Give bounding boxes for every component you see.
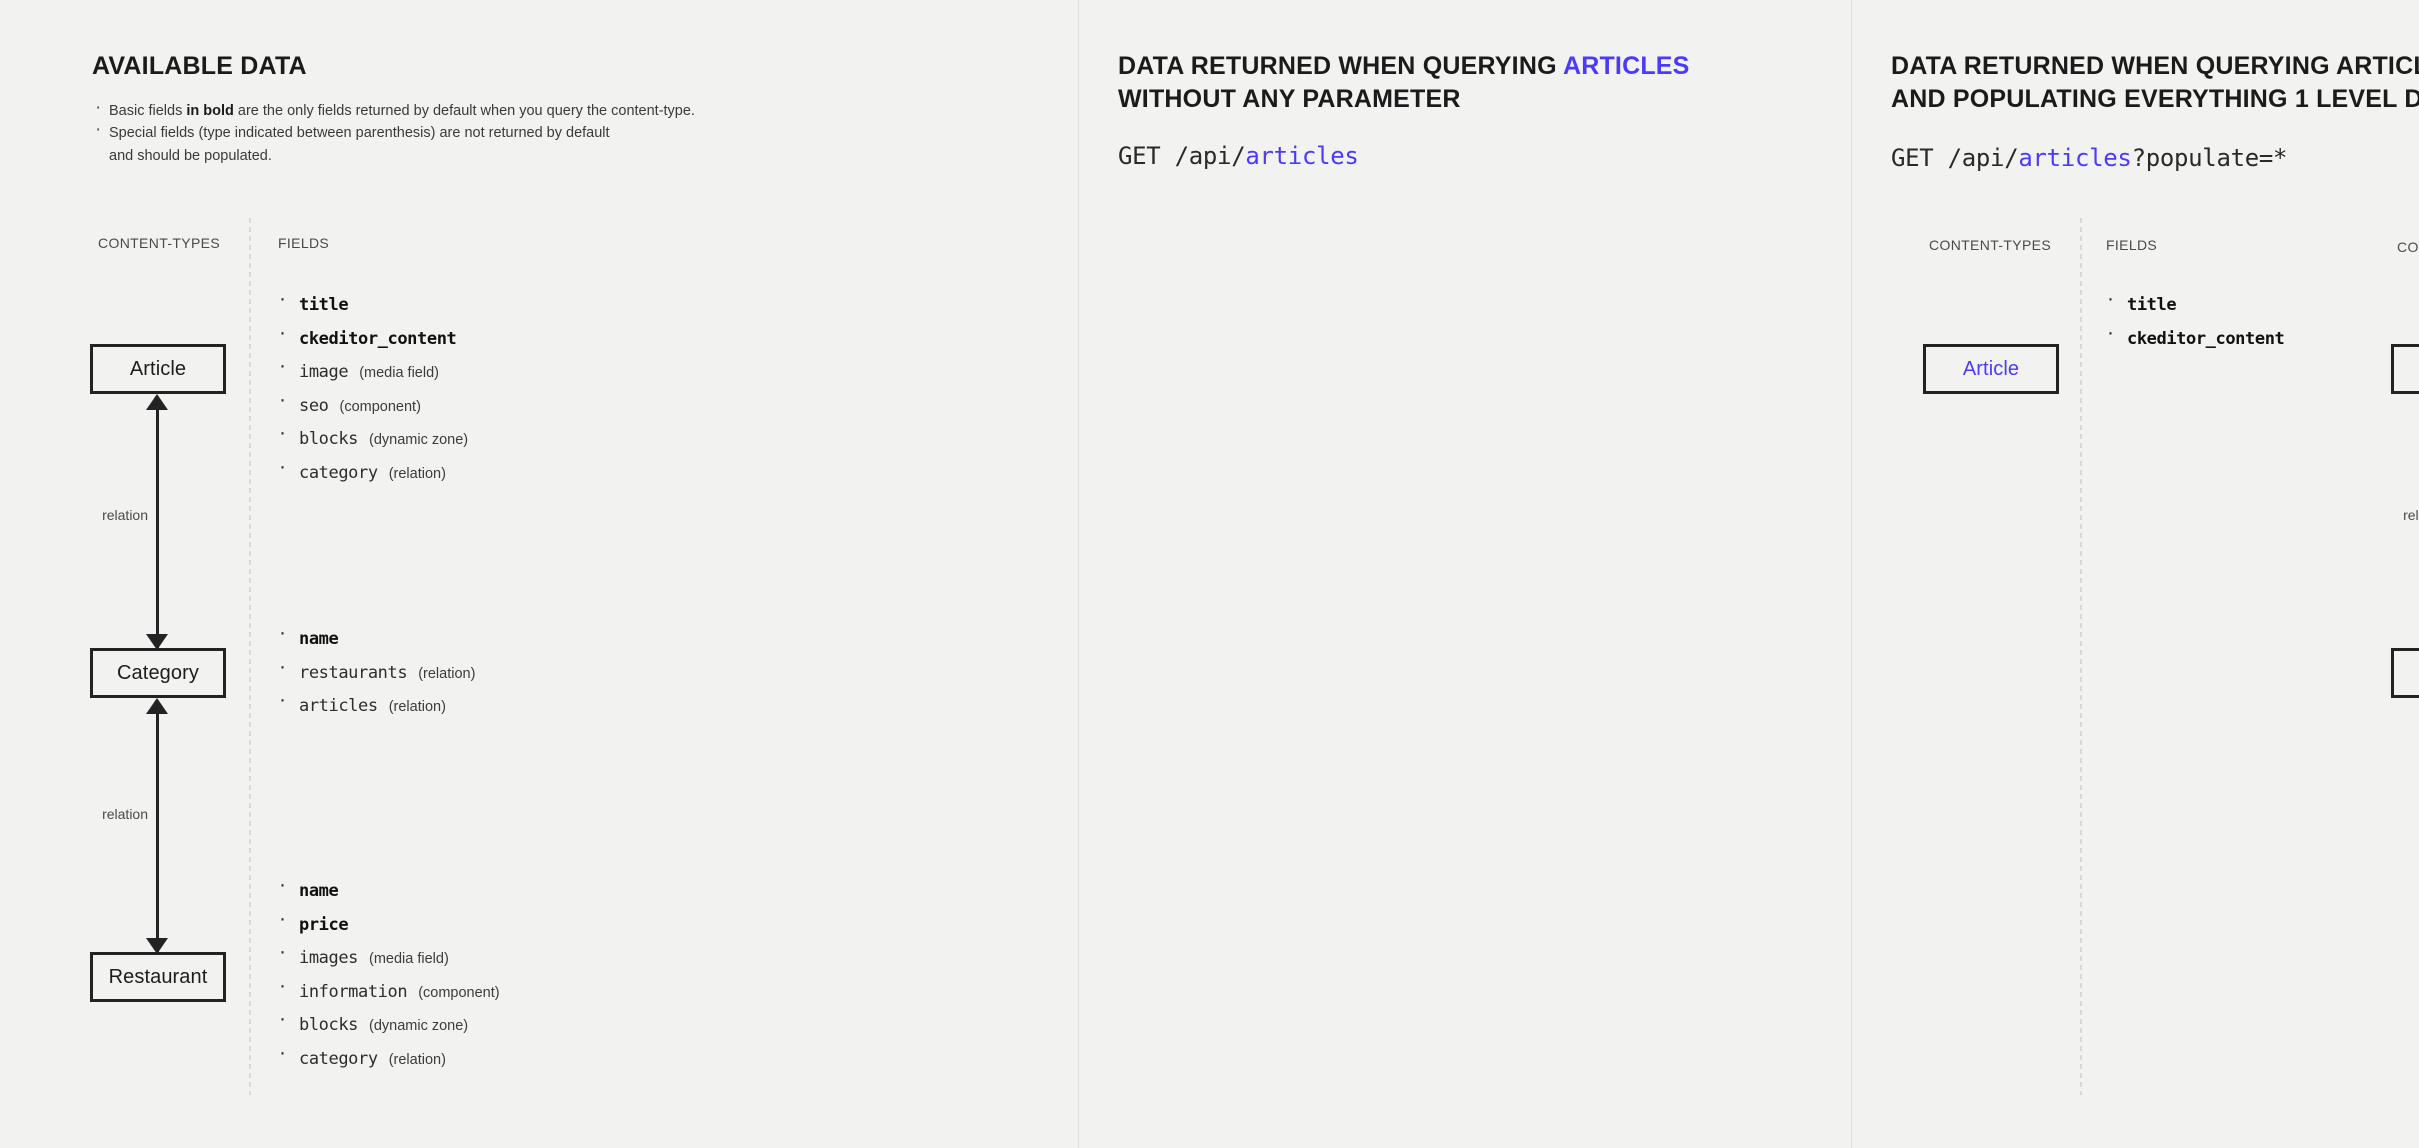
panel-2-endpoint: GET /api/articles: [1118, 142, 1359, 170]
panel-3-title-line2: AND POPULATING EVERYTHING 1 LEVEL DEEP: [1891, 83, 2419, 116]
field-row: ckeditor_content: [275, 329, 468, 349]
field-list-article: title ckeditor_content image (media fiel…: [275, 295, 468, 496]
endpoint-method: GET: [1118, 142, 1160, 170]
field-row: name: [275, 629, 475, 649]
entity-box-category[interactable]: Category: [90, 648, 226, 698]
panel-3-endpoint: GET /api/articles?populate=*: [1891, 144, 2287, 172]
field-row: image (media field): [275, 362, 468, 382]
relation-label-1: relation: [78, 505, 153, 525]
panel-1-dotted-divider: [249, 218, 251, 1095]
field-row: information (component): [275, 982, 500, 1002]
relation-line-2: [156, 704, 159, 952]
entity-box-article[interactable]: Article: [90, 344, 226, 394]
relation-label-1: relation: [2379, 505, 2419, 525]
field-row: category (relation): [275, 1049, 500, 1069]
field-row: articles (relation): [275, 696, 475, 716]
relation-arrowhead-1-down: [146, 634, 168, 650]
panel-2-title-plain: DATA RETURNED WHEN QUERYING: [1118, 52, 1563, 80]
panel-2-title: DATA RETURNED WHEN QUERYING ARTICLES: [1118, 50, 1690, 83]
field-row: images (media field): [275, 948, 500, 968]
panel-query-no-parameter: DATA RETURNED WHEN QUERYING ARTICLES WIT…: [1078, 0, 1851, 1148]
note-item-2: Special fields (type indicated between p…: [92, 122, 695, 144]
panel-1-label-fields: FIELDS: [278, 235, 329, 251]
field-row: seo (component): [275, 396, 468, 416]
entity-box-restaurant[interactable]: Restaurant: [90, 952, 226, 1002]
field-row: restaurants (relation): [275, 663, 475, 683]
endpoint-suffix: ?populate=*: [2132, 144, 2288, 172]
panel-3-label-content-types: CONTENT-TYPES: [2397, 239, 2419, 255]
field-row: blocks (dynamic zone): [275, 1015, 500, 1035]
relation-label-2: relation: [78, 804, 153, 824]
entity-box-category[interactable]: Category: [2391, 648, 2419, 698]
panel-query-populate-deep: DATA RETURNED WHEN QUERYING ARTICLES AND…: [1851, 0, 2419, 1148]
field-row: category (relation): [275, 463, 468, 483]
endpoint-method: GET: [1891, 144, 1933, 172]
note-item-2-continuation: and should be populated.: [92, 145, 695, 167]
panel-1-label-content-types: CONTENT-TYPES: [98, 235, 220, 251]
endpoint-resource: articles: [2018, 144, 2131, 172]
note-item-1: Basic fields in bold are the only fields…: [92, 100, 695, 122]
relation-arrowhead-1-up: [146, 394, 168, 410]
panel-2-title-line2: WITHOUT ANY PARAMETER: [1118, 83, 1461, 116]
field-list-category: name restaurants (relation) articles (re…: [275, 629, 475, 730]
endpoint-resource: articles: [1245, 142, 1358, 170]
endpoint-path-prefix: /api/: [1160, 142, 1245, 170]
entity-box-article[interactable]: Article: [2391, 344, 2419, 394]
field-row: blocks (dynamic zone): [275, 429, 468, 449]
field-list-restaurant: name price images (media field) informat…: [275, 881, 500, 1082]
field-row: title: [275, 295, 468, 315]
panel-1-title: AVAILABLE DATA: [92, 50, 307, 83]
relation-arrowhead-2-down: [146, 938, 168, 954]
panel-3-title-line1: DATA RETURNED WHEN QUERYING ARTICLES: [1891, 50, 2419, 83]
panel-1-notes: Basic fields in bold are the only fields…: [92, 100, 695, 167]
diagram-canvas: AVAILABLE DATA Basic fields in bold are …: [0, 0, 2419, 1148]
relation-line-1: [156, 400, 159, 648]
panel-2-title-highlight: ARTICLES: [1563, 52, 1690, 80]
relation-arrowhead-2-up: [146, 698, 168, 714]
panel-available-data: AVAILABLE DATA Basic fields in bold are …: [0, 0, 1078, 1148]
endpoint-path-prefix: /api/: [1933, 144, 2018, 172]
field-row: price: [275, 915, 500, 935]
field-row: name: [275, 881, 500, 901]
